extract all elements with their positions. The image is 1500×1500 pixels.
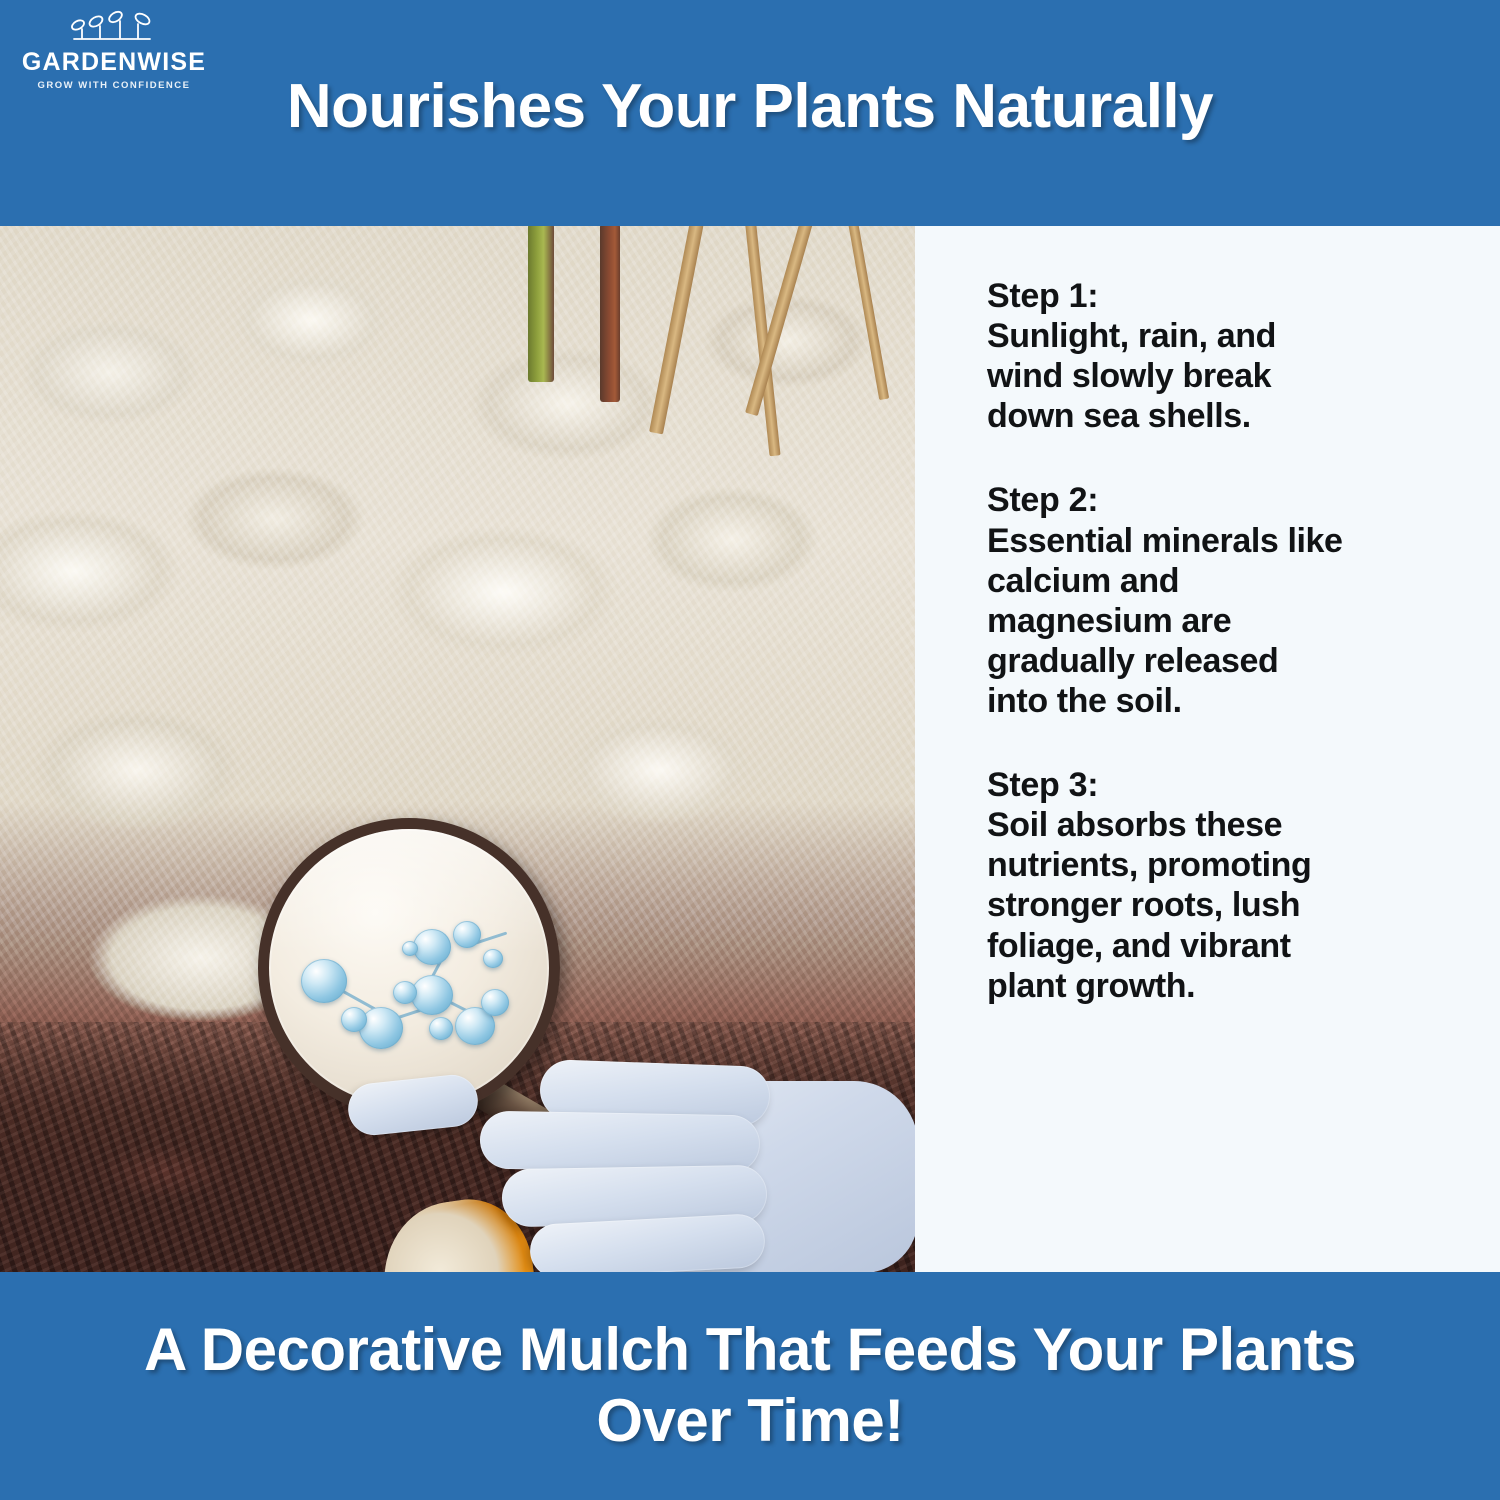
step-item-2: Step 2: Essential minerals like calcium … [987,480,1458,721]
brand-name: GARDENWISE [14,50,214,75]
step-item-3: Step 3: Soil absorbs these nutrients, pr… [987,765,1458,1006]
bottom-banner: A Decorative Mulch That Feeds Your Plant… [0,1272,1500,1500]
infographic-page: GARDENWISE GROW WITH CONFIDENCE Nourishe… [0,0,1500,1500]
content-section: Step 1: Sunlight, rain, and wind slowly … [0,226,1500,1272]
step-body: Soil absorbs these nutrients, promoting … [987,805,1458,1006]
top-banner: GARDENWISE GROW WITH CONFIDENCE Nourishe… [0,0,1500,226]
plant-sprouts-icon [68,8,160,48]
step-body: Essential minerals like calcium and magn… [987,521,1458,722]
footer-line-2: Over Time! [596,1386,903,1457]
glove-thumb [346,1072,481,1137]
step-label: Step 3: [987,765,1458,805]
green-plant-stem [528,226,554,382]
product-photo [0,226,915,1272]
step-label: Step 2: [987,480,1458,520]
red-plant-stem [600,226,620,402]
page-headline: Nourishes Your Plants Naturally [0,74,1500,139]
gloved-hand-icon [330,1071,915,1272]
step-body: Sunlight, rain, and wind slowly break do… [987,316,1458,436]
step-item-1: Step 1: Sunlight, rain, and wind slowly … [987,276,1458,436]
glove-finger [480,1111,761,1174]
step-label: Step 1: [987,276,1458,316]
footer-line-1: A Decorative Mulch That Feeds Your Plant… [144,1315,1356,1386]
steps-panel: Step 1: Sunlight, rain, and wind slowly … [915,226,1500,1272]
